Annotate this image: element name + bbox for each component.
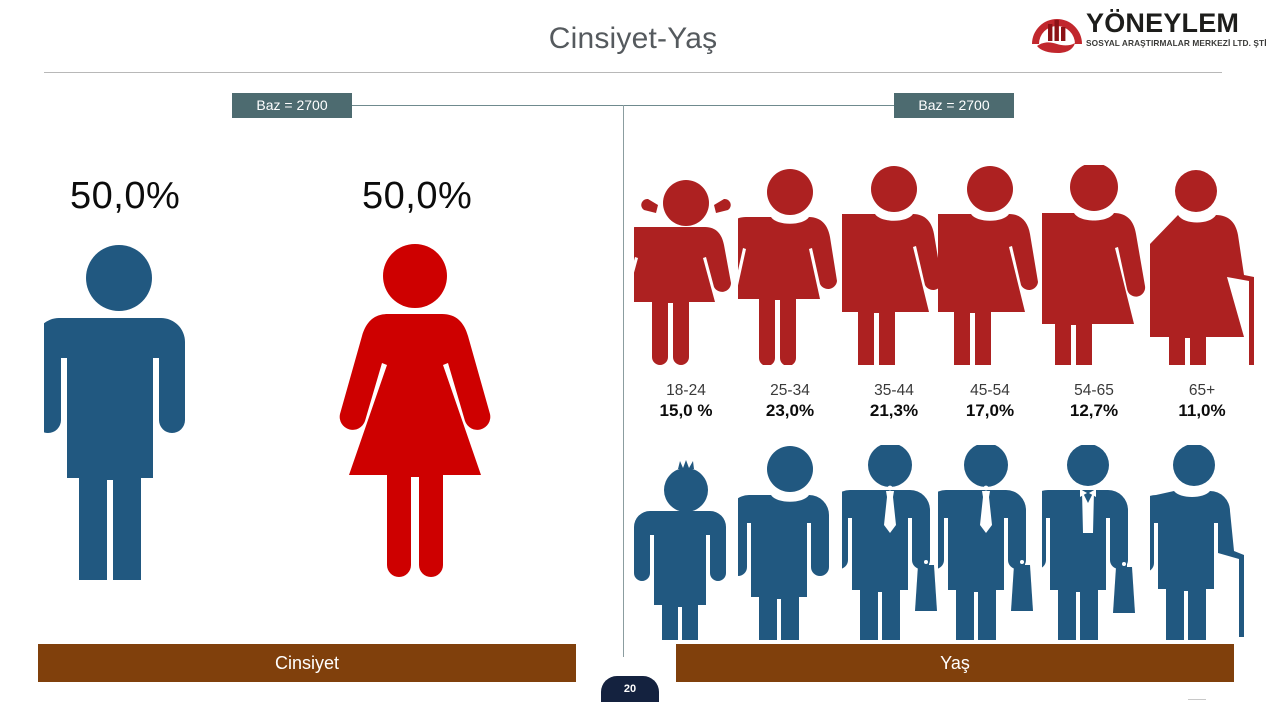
male-figure-54-65-icon <box>1042 445 1146 640</box>
age-label-54-65: 54-65 12,7% <box>1042 381 1146 421</box>
gender-band-label: Cinsiyet <box>38 644 576 682</box>
age-percent: 12,7% <box>1042 400 1146 421</box>
male-figure-icon <box>44 240 194 580</box>
baz-label-gender: Baz = 2700 <box>232 93 352 118</box>
age-range: 65+ <box>1150 381 1254 400</box>
logo-name: YÖNEYLEM <box>1086 9 1266 38</box>
female-figure-icon <box>328 240 503 580</box>
age-label-25-34: 25-34 23,0% <box>738 381 842 421</box>
female-percent-label: 50,0% <box>362 175 472 218</box>
age-range: 35-44 <box>842 381 946 400</box>
baz-connector-left <box>352 105 624 106</box>
logo-subtitle: SOSYAL ARAŞTIRMALAR MERKEZİ LTD. ŞTİ. <box>1086 38 1266 49</box>
header-divider <box>44 72 1222 73</box>
age-percent: 17,0% <box>938 400 1042 421</box>
male-figure-35-44-icon <box>842 445 946 640</box>
age-percent: 11,0% <box>1150 400 1254 421</box>
female-figure-45-54-icon <box>938 165 1042 365</box>
male-figure-25-34-icon <box>738 445 842 640</box>
age-range: 54-65 <box>1042 381 1146 400</box>
male-figure-45-54-icon <box>938 445 1042 640</box>
age-range: 18-24 <box>634 381 738 400</box>
baz-connector-right <box>623 105 894 106</box>
age-label-65-plus: 65+ 11,0% <box>1150 381 1254 421</box>
male-figure-65-plus-icon <box>1150 445 1254 640</box>
logo-wordmark: YÖNEYLEM SOSYAL ARAŞTIRMALAR MERKEZİ LTD… <box>1086 9 1266 49</box>
age-percent: 21,3% <box>842 400 946 421</box>
age-percent: 23,0% <box>738 400 842 421</box>
age-range: 45-54 <box>938 381 1042 400</box>
female-figure-35-44-icon <box>842 165 946 365</box>
age-range: 25-34 <box>738 381 842 400</box>
age-band-label: Yaş <box>676 644 1234 682</box>
baz-label-age: Baz = 2700 <box>894 93 1014 118</box>
male-figure-18-24-icon <box>634 445 738 640</box>
slide-root: Cinsiyet-Yaş YÖNEYLEM SOSYAL ARAŞTIRMALA… <box>0 0 1266 702</box>
female-figure-54-65-icon <box>1042 165 1146 365</box>
logo-mark-icon <box>1028 10 1086 56</box>
corner-tick-mark <box>1188 699 1206 700</box>
age-label-45-54: 45-54 17,0% <box>938 381 1042 421</box>
age-label-35-44: 35-44 21,3% <box>842 381 946 421</box>
company-logo: YÖNEYLEM SOSYAL ARAŞTIRMALAR MERKEZİ LTD… <box>1028 8 1244 58</box>
panel-divider <box>623 105 624 657</box>
female-figure-65-plus-icon <box>1150 165 1254 365</box>
male-percent-label: 50,0% <box>70 175 180 218</box>
female-figure-18-24-icon <box>634 165 738 365</box>
age-label-18-24: 18-24 15,0 % <box>634 381 738 421</box>
age-percent: 15,0 % <box>634 400 738 421</box>
page-number-badge: 20 <box>601 676 659 702</box>
female-figure-25-34-icon <box>738 165 842 365</box>
